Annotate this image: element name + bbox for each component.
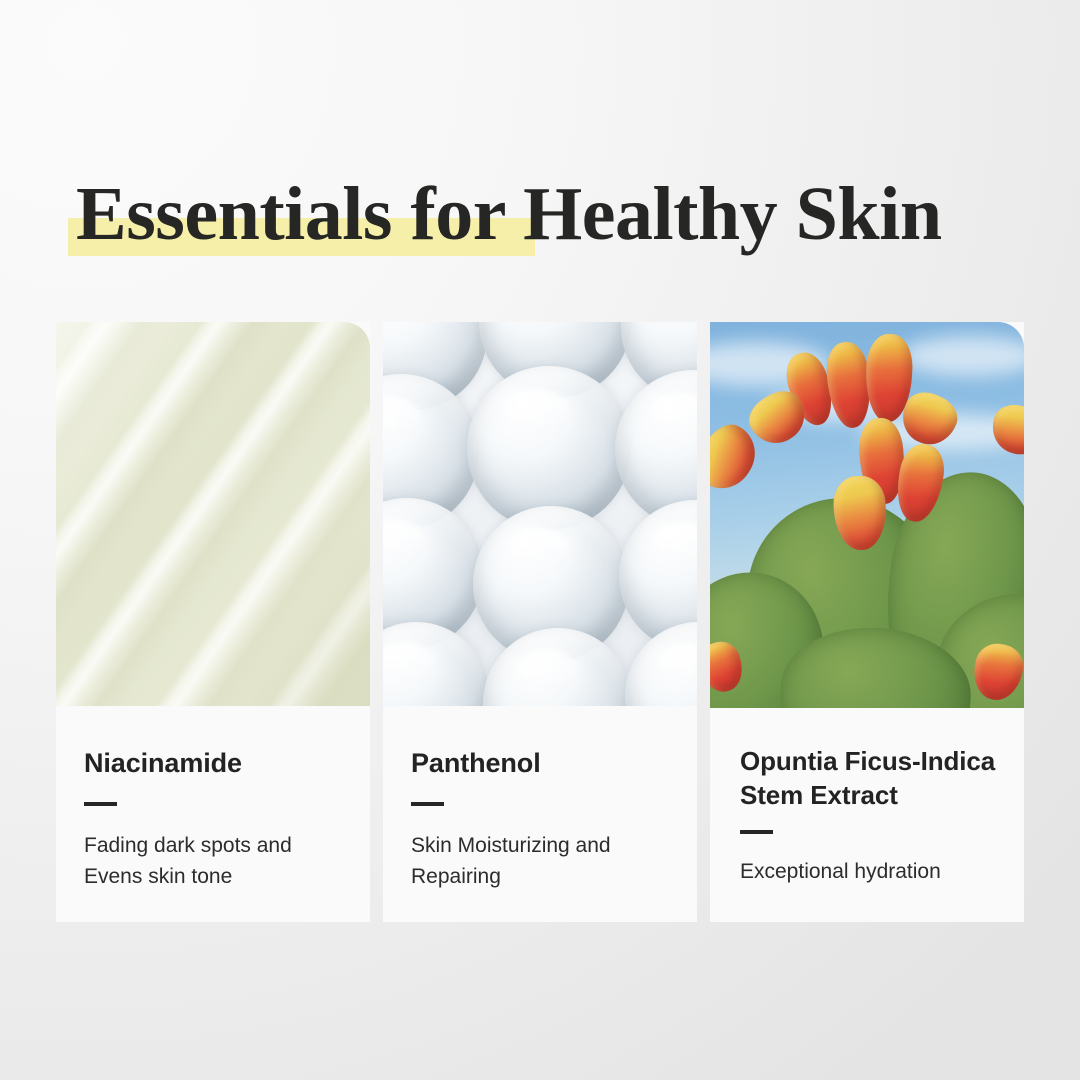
card-title: Panthenol xyxy=(411,746,697,780)
ingredient-card[interactable]: Panthenol Skin Moisturizing and Repairin… xyxy=(383,322,697,922)
infographic-page: Essentials for Healthy Skin Niacinamide … xyxy=(0,0,1080,1080)
card-description: Fading dark spots and Evens skin tone xyxy=(84,830,370,892)
ingredient-card-row: Niacinamide Fading dark spots and Evens … xyxy=(56,322,1024,922)
ingredient-card[interactable]: Opuntia Ficus-Indica Stem Extract Except… xyxy=(710,322,1024,922)
card-description: Skin Moisturizing and Repairing xyxy=(411,830,697,892)
cactus-fruit xyxy=(986,399,1024,460)
card-divider-dash xyxy=(411,802,444,806)
card-divider-dash xyxy=(740,830,773,834)
page-title-text: Essentials for Healthy Skin xyxy=(76,176,1036,252)
gel-bubble xyxy=(625,622,697,706)
page-title: Essentials for Healthy Skin xyxy=(76,176,1036,260)
gel-bubble xyxy=(383,622,489,706)
card-title: Niacinamide xyxy=(84,746,370,780)
card-title: Opuntia Ficus-Indica Stem Extract xyxy=(740,744,1024,812)
cloud-shape xyxy=(900,336,1024,376)
gel-bubbles-image xyxy=(383,322,697,706)
card-divider-dash xyxy=(84,802,117,806)
card-body: Panthenol Skin Moisturizing and Repairin… xyxy=(383,706,697,922)
cream-sheen-layer xyxy=(56,322,370,706)
gel-background-layer xyxy=(383,322,697,706)
cactus-fruit-image xyxy=(710,322,1024,708)
card-body: Niacinamide Fading dark spots and Evens … xyxy=(56,706,370,922)
card-description: Exceptional hydration xyxy=(740,856,1024,887)
ingredient-card[interactable]: Niacinamide Fading dark spots and Evens … xyxy=(56,322,370,922)
cactus-scene-layer xyxy=(710,322,1024,708)
cream-texture-image xyxy=(56,322,370,706)
card-body: Opuntia Ficus-Indica Stem Extract Except… xyxy=(710,708,1024,922)
